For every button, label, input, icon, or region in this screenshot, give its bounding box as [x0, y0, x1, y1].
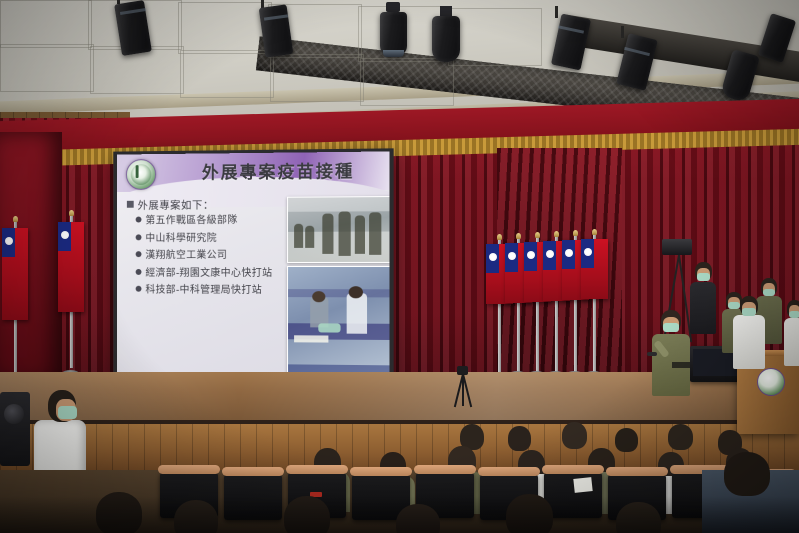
slide-bullet-item: 中山科學研究院	[136, 232, 285, 245]
slide-bullet-item: 第五作戰區各級部隊	[136, 215, 285, 228]
roc-flag	[58, 222, 84, 312]
slide-heading: 外展專案如下：	[127, 197, 285, 213]
projection-screen: 外展專案疫苗接種 外展專案如下： 第五作戰區各級部隊 中山科學研究院 漢翔航空工…	[117, 151, 389, 382]
round-bullet-icon	[136, 268, 142, 274]
foreground-head-right	[724, 452, 770, 496]
slide-photo-vaccination	[287, 266, 390, 378]
camera-tripod	[462, 374, 463, 375]
roc-flag	[581, 239, 608, 299]
slide-body: 外展專案如下： 第五作戰區各級部隊 中山科學研究院 漢翔航空工業公司 經濟部-翔…	[127, 197, 285, 303]
slide-bullet-item: 經濟部-翔園文康中心快打站	[136, 267, 285, 280]
round-bullet-icon	[136, 286, 142, 292]
slide-emblem-mark	[136, 165, 139, 178]
slide-bullet-item: 科技部-中科管理局快打站	[136, 285, 285, 298]
roc-flag	[2, 228, 28, 320]
microphone-icon	[647, 352, 657, 356]
slide-emblem-icon	[126, 159, 156, 190]
camera-lens-icon	[4, 404, 24, 424]
round-bullet-icon	[136, 234, 142, 240]
ceiling-tile	[360, 58, 454, 106]
presenter-belt	[672, 362, 690, 368]
ceiling-tile	[0, 44, 94, 92]
slide-bullet-item: 漢翔航空工業公司	[136, 250, 285, 263]
slide-bullet-text: 第五作戰區各級部隊	[145, 215, 237, 226]
foreground-shadow	[0, 496, 799, 533]
podium-emblem-icon	[757, 368, 785, 396]
slide-bullet-text: 經濟部-翔園文康中心快打站	[145, 267, 272, 278]
slide-title: 外展專案疫苗接種	[171, 157, 387, 184]
slide-bullet-text: 漢翔航空工業公司	[145, 250, 227, 261]
ceiling-tile	[448, 8, 542, 66]
slide-heading-text: 外展專案如下：	[138, 200, 214, 211]
slide-photo-hallway	[287, 196, 390, 263]
slide-bullet-text: 中山科學研究院	[145, 233, 217, 244]
ceiling-tile	[180, 50, 274, 98]
round-bullet-icon	[136, 217, 142, 223]
slide-bullet-text: 科技部-中科管理局快打站	[145, 285, 262, 296]
auditorium-photo: 外展專案疫苗接種 外展專案如下： 第五作戰區各級部隊 中山科學研究院 漢翔航空工…	[0, 0, 799, 533]
seat-paper	[573, 477, 592, 493]
ceiling-tile	[0, 0, 92, 48]
ceiling-tile	[270, 54, 364, 102]
slide-emblem-inner	[131, 164, 151, 185]
round-bullet-icon	[136, 251, 142, 257]
ceiling-tile	[178, 2, 272, 54]
video-camera-rig	[678, 255, 679, 256]
square-bullet-icon	[127, 201, 134, 208]
